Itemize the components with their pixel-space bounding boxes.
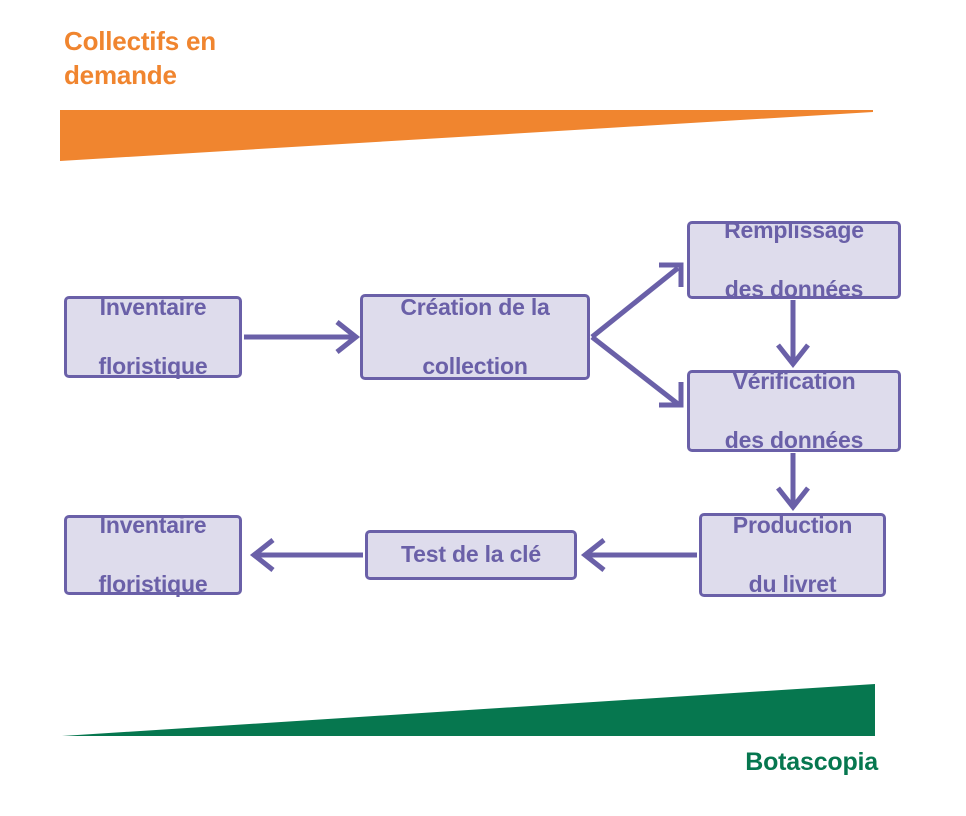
green-wedge-increasing: [62, 684, 875, 736]
node-production-du-livret[interactable]: Production du livret: [699, 513, 886, 597]
edge-inventaire1-to-creation: [244, 322, 356, 352]
top-annotation-label: Collectifs en demande: [64, 24, 324, 93]
node-label-line1: Production: [708, 511, 877, 540]
node-inventaire-floristique-start[interactable]: Inventaire floristique: [64, 296, 242, 378]
edge-remplissage-to-verification: [778, 300, 808, 364]
node-label-line2: floristique: [73, 570, 233, 599]
node-label-line2: floristique: [73, 352, 233, 381]
top-annotation-line1: Collectifs en: [64, 26, 216, 56]
node-label-line1: Inventaire: [73, 293, 233, 322]
node-label-line2: du livret: [708, 570, 877, 599]
node-label-line2: des données: [696, 275, 892, 304]
edge-creation-to-remplissage: [592, 265, 681, 337]
bottom-annotation-label: Botascopia: [745, 748, 878, 777]
node-label-line1: Inventaire: [73, 511, 233, 540]
node-inventaire-floristique-end[interactable]: Inventaire floristique: [64, 515, 242, 595]
orange-wedge-decreasing: [60, 110, 873, 161]
node-test-de-la-cle[interactable]: Test de la clé: [365, 530, 577, 580]
diagram-canvas: Collectifs en demande Botascopia Inventa…: [0, 0, 966, 816]
edge-verification-to-production: [778, 453, 808, 507]
edge-creation-to-verification: [592, 337, 681, 405]
node-label-line2: collection: [369, 352, 581, 381]
top-annotation-line2: demande: [64, 60, 177, 90]
node-creation-de-la-collection[interactable]: Création de la collection: [360, 294, 590, 380]
node-remplissage-des-donnees[interactable]: Remplissage des données: [687, 221, 901, 299]
node-label-line1: Vérification: [696, 367, 892, 396]
node-verification-des-donnees[interactable]: Vérification des données: [687, 370, 901, 452]
edge-production-to-test: [585, 540, 697, 570]
node-label-line1: Test de la clé: [374, 540, 568, 569]
node-label-line1: Création de la: [369, 293, 581, 322]
node-label-line1: Remplissage: [696, 216, 892, 245]
edge-test-to-inventaire2: [254, 540, 363, 570]
node-label-line2: des données: [696, 426, 892, 455]
